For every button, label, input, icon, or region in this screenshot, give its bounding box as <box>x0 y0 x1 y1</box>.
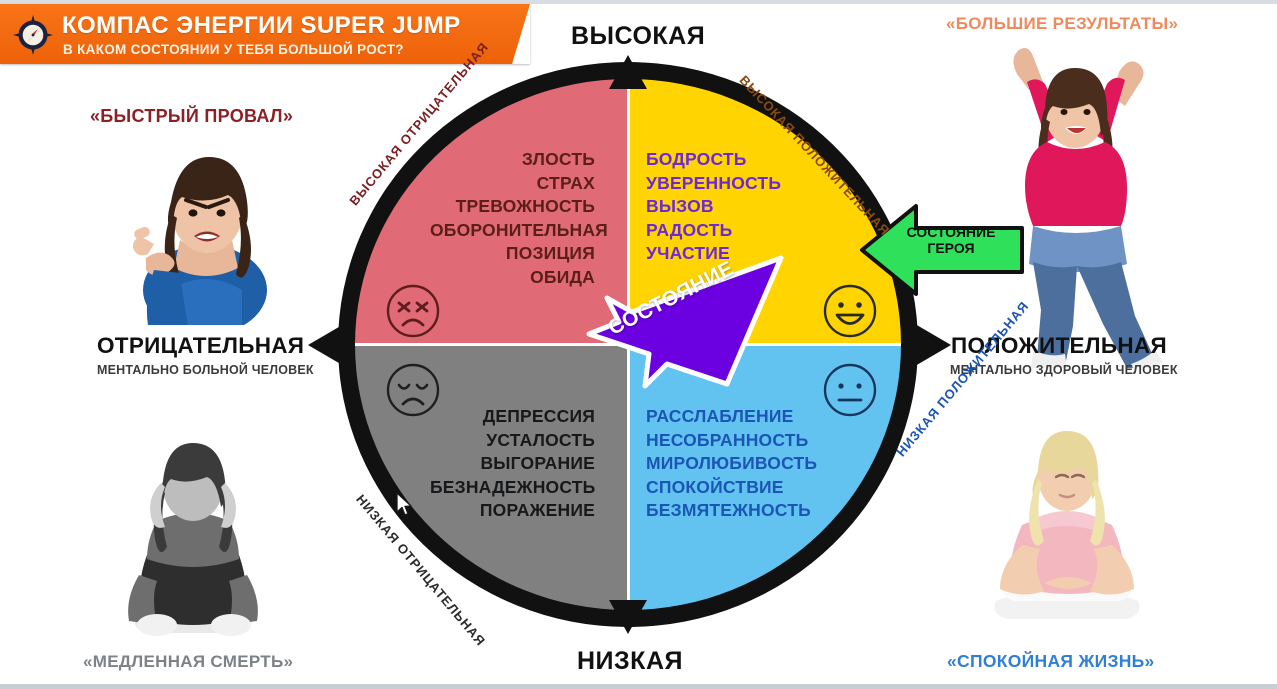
axis-label-low: НИЗКАЯ <box>577 647 683 676</box>
banner-subtitle: В КАКОМ СОСТОЯНИИ У ТЕБЯ БОЛЬШОЙ РОСТ? <box>63 42 404 57</box>
meditating-woman-photo <box>960 405 1175 635</box>
word-item: ВЫГОРАНИЕ <box>430 452 595 476</box>
word-item: ВЫЗОВ <box>646 195 846 219</box>
axis-marker-left <box>308 324 344 366</box>
word-item: БЕЗНАДЕЖНОСТЬ <box>430 476 595 500</box>
word-item: СПОКОЙСТВИЕ <box>646 476 856 500</box>
axis-marker-right <box>915 324 951 366</box>
word-item: СТРАХ <box>430 172 595 196</box>
axis-label-negative: ОТРИЦАТЕЛЬНАЯ <box>97 333 297 359</box>
caption-calm-life: «СПОКОЙНАЯ ЖИЗНЬ» <box>947 651 1155 672</box>
word-item: ЗЛОСТЬ <box>430 148 595 172</box>
word-item: МИРОЛЮБИВОСТЬ <box>646 452 856 476</box>
word-item: БЕЗМЯТЕЖНОСТЬ <box>646 499 856 523</box>
caption-big-results: «БОЛЬШИЕ РЕЗУЛЬТАТЫ» <box>946 14 1178 34</box>
word-item: РАДОСТЬ <box>646 219 846 243</box>
page-edge-bottom <box>0 684 1277 689</box>
word-item: ДЕПРЕССИЯ <box>430 405 595 429</box>
word-item: ПОРАЖЕНИЕ <box>430 499 595 523</box>
word-item: ПОЗИЦИЯ <box>430 242 595 266</box>
word-list-low-positive: РАССЛАБЛЕНИЕ НЕСОБРАННОСТЬ МИРОЛЮБИВОСТЬ… <box>646 405 856 523</box>
axis-marker-bottom <box>609 600 647 634</box>
sad-closed-eyes-face-icon <box>385 362 441 418</box>
green-arrow-label: СОСТОЯНИЕ ГЕРОЯ <box>896 224 1006 256</box>
word-item: УСТАЛОСТЬ <box>430 429 595 453</box>
slide-canvas: КОМПАС ЭНЕРГИИ SUPER JUMP В КАКОМ СОСТОЯ… <box>0 0 1277 689</box>
banner-corner-cut <box>512 4 530 64</box>
angry-woman-pointing-photo <box>110 140 290 325</box>
despairing-woman-sitting-photo <box>95 425 290 640</box>
word-item: ТРЕВОЖНОСТЬ <box>430 195 595 219</box>
word-list-low-negative: ДЕПРЕССИЯ УСТАЛОСТЬ ВЫГОРАНИЕ БЕЗНАДЕЖНО… <box>430 405 595 523</box>
caption-slow-death: «МЕДЛЕННАЯ СМЕРТЬ» <box>83 652 293 672</box>
angry-x-eyes-face-icon <box>385 283 441 339</box>
word-item: ОБИДА <box>430 266 595 290</box>
word-list-high-negative: ЗЛОСТЬ СТРАХ ТРЕВОЖНОСТЬ ОБОРОНИТЕЛЬНАЯ … <box>430 148 595 289</box>
axis-label-high: ВЫСОКАЯ <box>571 22 705 51</box>
axis-sublabel-negative: МЕНТАЛЬНО БОЛЬНОЙ ЧЕЛОВЕК <box>97 363 297 377</box>
mouse-pointer-icon <box>396 492 413 517</box>
word-item: ОБОРОНИТЕЛЬНАЯ <box>430 219 595 243</box>
caption-fast-failure: «БЫСТРЫЙ ПРОВАЛ» <box>90 106 293 127</box>
word-item: НЕСОБРАННОСТЬ <box>646 429 856 453</box>
word-item: УВЕРЕННОСТЬ <box>646 172 846 196</box>
header-banner: КОМПАС ЭНЕРГИИ SUPER JUMP В КАКОМ СОСТОЯ… <box>0 4 530 64</box>
neutral-face-icon <box>822 362 878 418</box>
axis-label-negative-group: ОТРИЦАТЕЛЬНАЯ МЕНТАЛЬНО БОЛЬНОЙ ЧЕЛОВЕК <box>97 333 297 377</box>
axis-marker-top <box>609 55 647 89</box>
banner-title: КОМПАС ЭНЕРГИИ SUPER JUMP <box>62 12 461 40</box>
compass-icon <box>13 15 53 55</box>
